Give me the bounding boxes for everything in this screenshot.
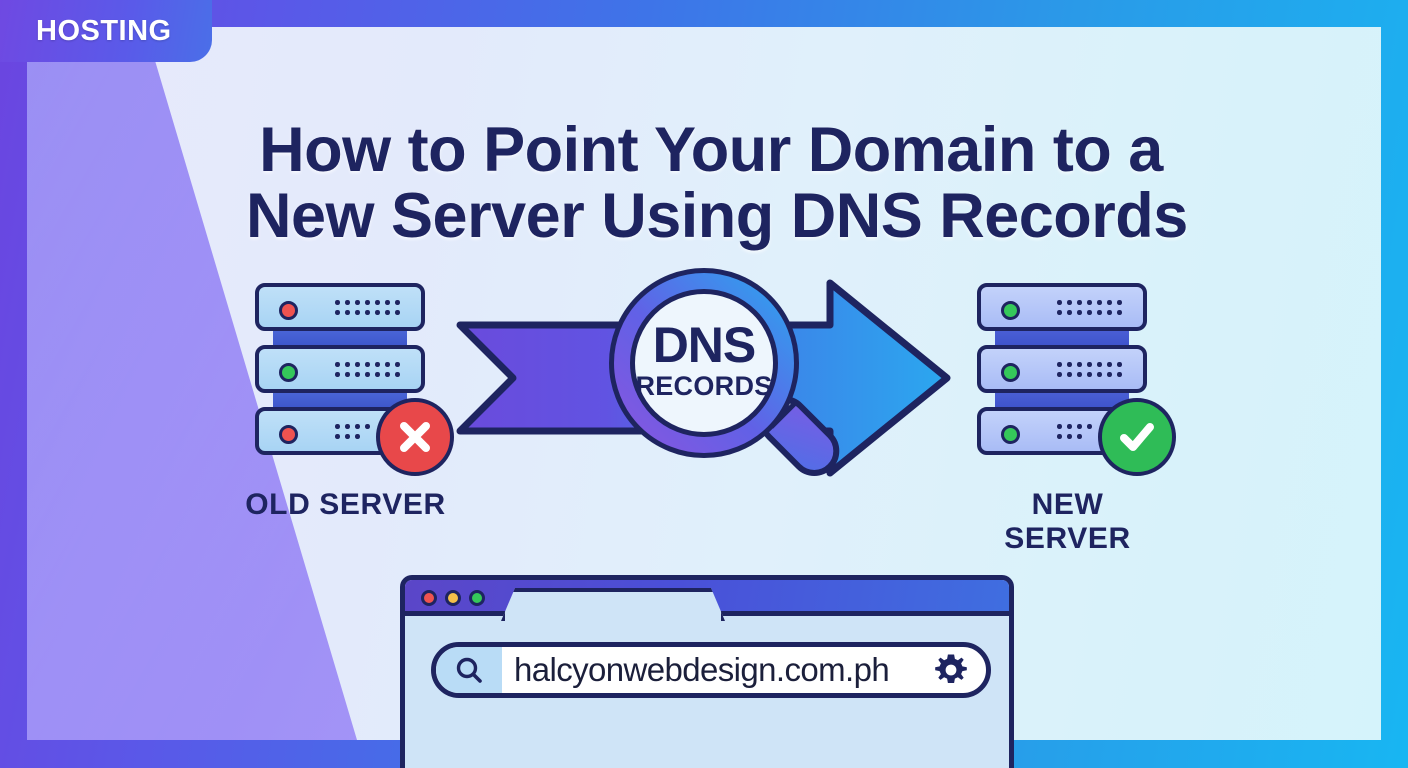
old-server-group: OLD SERVER bbox=[243, 283, 448, 528]
rack-connector bbox=[273, 391, 407, 407]
status-led-red bbox=[279, 425, 298, 444]
gear-icon[interactable] bbox=[916, 652, 986, 688]
new-server-label: NEW SERVER bbox=[965, 488, 1170, 556]
rack-connector bbox=[995, 391, 1129, 407]
rack-connector bbox=[273, 329, 407, 345]
status-led-green bbox=[1001, 363, 1020, 382]
vent-dot-grid bbox=[335, 362, 405, 384]
page-title-line-2: New Server Using DNS Records bbox=[246, 184, 1176, 250]
server-rack-unit bbox=[255, 345, 425, 393]
status-led-green bbox=[1001, 301, 1020, 320]
browser-tab[interactable] bbox=[501, 588, 725, 621]
browser-window: halcyonwebdesign.com.ph bbox=[400, 575, 1014, 768]
server-rack-unit bbox=[977, 345, 1147, 393]
window-close-dot[interactable] bbox=[421, 590, 437, 606]
x-mark-icon bbox=[376, 398, 454, 476]
page-title-line-1: How to Point Your Domain to a bbox=[246, 118, 1176, 184]
status-led-red bbox=[279, 301, 298, 320]
status-led-green bbox=[279, 363, 298, 382]
browser-frame: halcyonwebdesign.com.ph bbox=[400, 575, 1014, 768]
category-badge: HOSTING bbox=[0, 0, 212, 62]
check-mark-icon bbox=[1098, 398, 1176, 476]
rack-connector bbox=[995, 329, 1129, 345]
search-icon[interactable] bbox=[436, 647, 502, 693]
server-rack-unit bbox=[255, 283, 425, 331]
address-input[interactable]: halcyonwebdesign.com.ph bbox=[502, 651, 916, 689]
old-server-label: OLD SERVER bbox=[243, 488, 448, 522]
new-server-group: NEW SERVER bbox=[965, 283, 1170, 528]
window-maximize-dot[interactable] bbox=[469, 590, 485, 606]
new-server-rack-stack bbox=[965, 283, 1145, 463]
status-led-green bbox=[1001, 425, 1020, 444]
window-minimize-dot[interactable] bbox=[445, 590, 461, 606]
infographic-canvas: HOSTING How to Point Your Domain to a Ne… bbox=[0, 0, 1408, 768]
page-title: How to Point Your Domain to a New Server… bbox=[246, 118, 1176, 249]
server-rack-unit bbox=[977, 283, 1147, 331]
category-badge-label: HOSTING bbox=[36, 15, 172, 48]
address-bar[interactable]: halcyonwebdesign.com.ph bbox=[431, 642, 991, 698]
vent-dot-grid bbox=[1057, 362, 1127, 384]
old-server-rack-stack bbox=[243, 283, 423, 463]
vent-dot-grid bbox=[335, 300, 405, 322]
magnifying-glass-icon: DNS RECORDS bbox=[590, 265, 870, 520]
vent-dot-grid bbox=[1057, 300, 1127, 322]
